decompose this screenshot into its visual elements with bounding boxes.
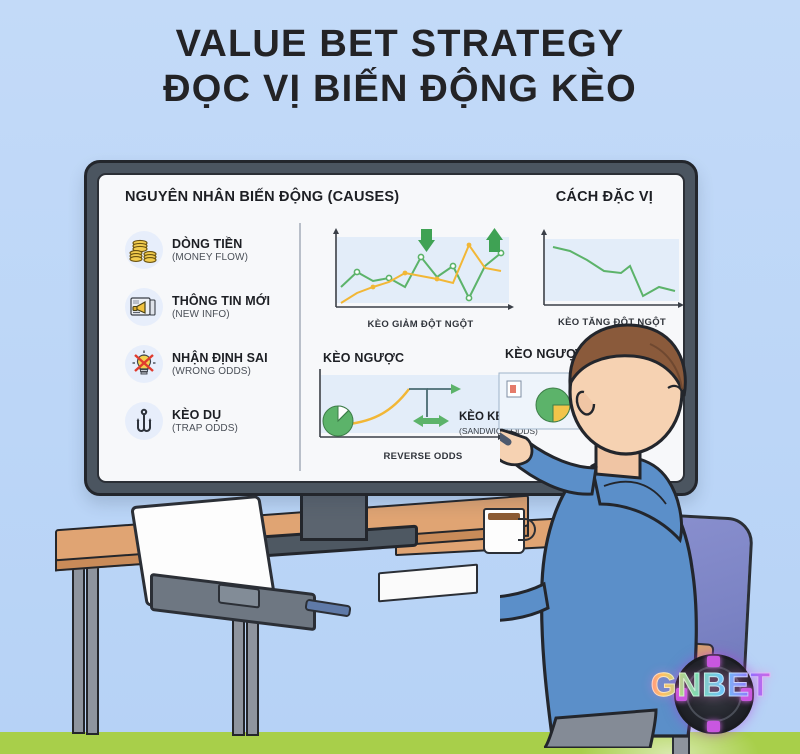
chart-sudden-drop-svg xyxy=(321,227,516,322)
board-header-right: CÁCH ĐẶC VỊ xyxy=(556,189,653,205)
reverse-odds-heading: KÈO NGƯỢC xyxy=(323,351,404,365)
brand-logo-text: GNBET xyxy=(636,666,786,704)
cause-subtitle: (WRONG ODDS) xyxy=(172,366,268,377)
chart-sudden-drop-caption: KÈO GIẢM ĐỘT NGỘT xyxy=(333,319,508,330)
brand-logo: GNBET xyxy=(636,650,786,732)
cause-item-new-info: THÔNG TIN MỚI (NEW INFO) xyxy=(125,286,300,328)
page-title: VALUE BET STRATEGY ĐỌC VỊ BIẾN ĐỘNG KÈO xyxy=(0,24,800,111)
cause-subtitle: (NEW INFO) xyxy=(172,309,270,320)
title-line-1: VALUE BET STRATEGY xyxy=(0,24,800,64)
chip-tab xyxy=(707,721,720,732)
cause-item-trap-odds: KÈO DỤ (TRAP ODDS) xyxy=(125,400,300,442)
title-line-2: ĐỌC VỊ BIẾN ĐỘNG KÈO xyxy=(0,68,800,111)
cause-title: THÔNG TIN MỚI xyxy=(172,294,270,308)
desk-leg xyxy=(72,545,85,734)
cause-item-wrong-odds: NHẬN ĐỊNH SAI (WRONG ODDS) xyxy=(125,343,300,385)
notepad xyxy=(378,564,478,603)
pie-chart-green xyxy=(323,406,353,436)
chart-sudden-rise-svg xyxy=(531,227,685,322)
cause-subtitle: (MONEY FLOW) xyxy=(172,252,248,263)
chart-reverse-odds: REVERSE ODDS KÈO KẸP (SANDWICH ODDS) xyxy=(309,369,519,479)
causes-list: DÒNG TIỀN (MONEY FLOW) xyxy=(125,229,300,457)
cause-title: KÈO DỤ xyxy=(172,408,238,422)
cause-title: DÒNG TIỀN xyxy=(172,237,248,251)
cause-title: NHẬN ĐỊNH SAI xyxy=(172,351,268,365)
cause-subtitle: (TRAP ODDS) xyxy=(172,423,238,434)
cause-item-money-flow: DÒNG TIỀN (MONEY FLOW) xyxy=(125,229,300,271)
chart-sudden-drop: KÈO GIẢM ĐỘT NGỘT xyxy=(321,227,516,332)
chart-reverse-odds-caption: REVERSE ODDS xyxy=(353,451,493,462)
megaphone-news-icon xyxy=(125,288,163,326)
board-header-left: NGUYÊN NHÂN BIẾN ĐỘNG (CAUSES) xyxy=(125,189,399,205)
fish-hook-icon xyxy=(125,402,163,440)
infographic-canvas: VALUE BET STRATEGY ĐỌC VỊ BIẾN ĐỘNG KÈO … xyxy=(0,0,800,754)
chart-sudden-rise: KÈO TĂNG ĐỘT NGỘT xyxy=(531,227,685,332)
coins-icon xyxy=(125,231,163,269)
desk-leg xyxy=(86,549,99,735)
crossed-lightbulb-icon xyxy=(125,345,163,383)
